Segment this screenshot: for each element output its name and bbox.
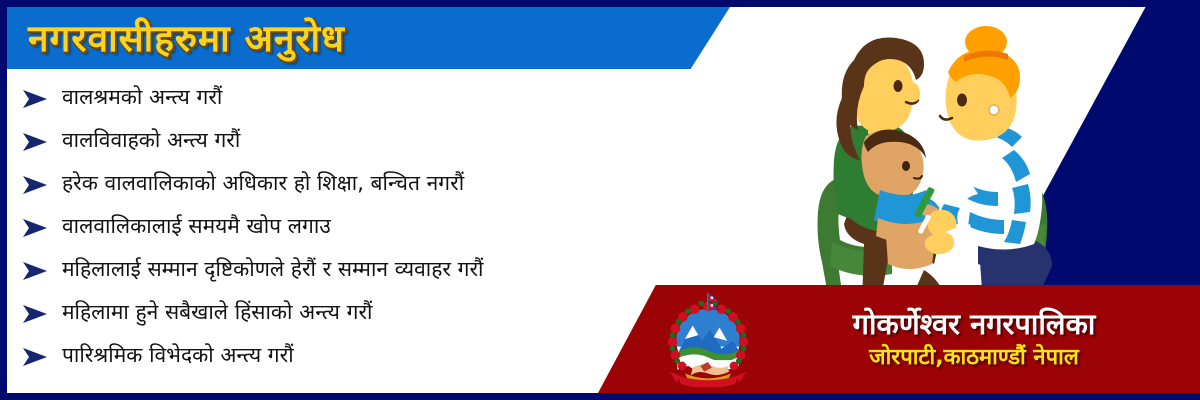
arrow-right-icon: [22, 261, 48, 281]
list-item-label: वालवालिकालाई समयमै खोप लगाउ: [62, 214, 331, 238]
frame-top-border: [0, 0, 1200, 7]
list-item-label: महिलालाई सम्मान दृष्टिकोणले हेरौं र सम्म…: [62, 257, 483, 281]
list-item: हरेक वालवालिकाको अधिकार हो शिक्षा, बन्चि…: [22, 162, 722, 205]
organization-name: गोकर्णेश्वर नगरपालिका: [853, 308, 1096, 341]
arrow-right-icon: [22, 175, 48, 195]
organization-identity: गोकर्णेश्वर नगरपालिका जोरपाटी,काठमाण्डौं…: [770, 308, 1200, 371]
list-item: वालश्रमको अन्त्य गरौं: [22, 76, 722, 119]
mother-child-vaccination-illustration: [802, 26, 1122, 316]
list-item-label: हरेक वालवालिकाको अधिकार हो शिक्षा, बन्चि…: [62, 171, 464, 195]
arrow-right-icon: [22, 347, 48, 367]
list-item: वालविवाहको अन्त्य गरौं: [22, 119, 722, 162]
list-item-label: वालश्रमको अन्त्य गरौं: [62, 85, 222, 109]
public-notice-banner: नगरवासीहरुमा अनुरोध वालश्रमको अन्त्य गरौ…: [0, 0, 1200, 400]
title-banner: नगरवासीहरुमा अनुरोध: [0, 7, 730, 69]
list-item-label: वालविवाहको अन्त्य गरौं: [62, 128, 240, 152]
arrow-right-icon: [22, 218, 48, 238]
arrow-right-icon: [22, 304, 48, 324]
page-title: नगरवासीहरुमा अनुरोध: [28, 20, 345, 57]
arrow-right-icon: [22, 132, 48, 152]
list-item: महिलामा हुने सबैखाले हिंसाको अन्त्य गरौं: [22, 291, 722, 334]
list-item: वालवालिकालाई समयमै खोप लगाउ: [22, 205, 722, 248]
list-item-label: पारिश्रमिक विभेदको अन्त्य गरौं: [62, 343, 294, 367]
organization-address: जोरपाटी,काठमाण्डौं नेपाल: [869, 345, 1079, 370]
arrow-right-icon: [22, 89, 48, 109]
list-item: महिलालाई सम्मान दृष्टिकोणले हेरौं र सम्म…: [22, 248, 722, 291]
frame-left-border: [0, 0, 7, 400]
municipality-band: गोकर्णेश्वर नगरपालिका जोरपाटी,काठमाण्डौं…: [598, 285, 1200, 393]
nepal-national-emblem-icon: [660, 291, 756, 387]
appeals-list: वालश्रमको अन्त्य गरौं वालविवाहको अन्त्य …: [22, 76, 722, 377]
list-item-label: महिलामा हुने सबैखाले हिंसाको अन्त्य गरौं: [62, 300, 373, 324]
frame-bottom-border: [0, 393, 1200, 400]
